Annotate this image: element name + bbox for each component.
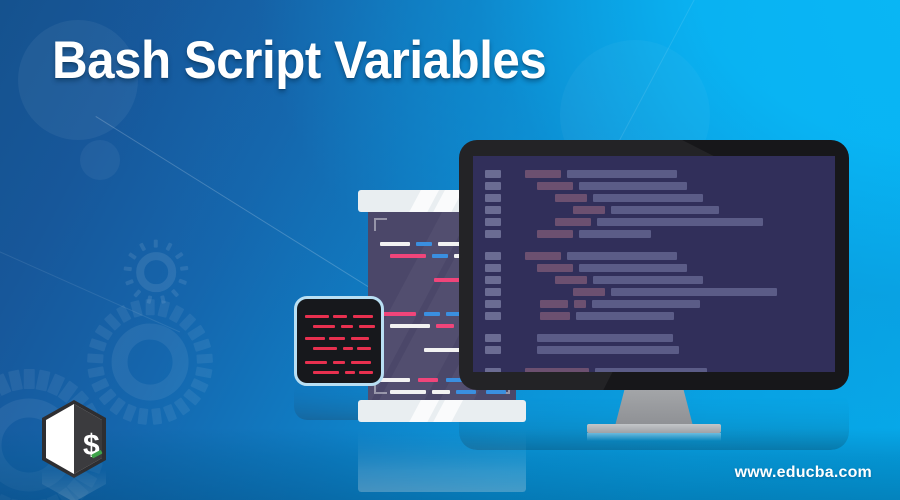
- code-line-number: [485, 218, 501, 226]
- dollar-prompt-icon: $: [83, 429, 100, 462]
- code-line-number: [485, 368, 501, 372]
- tablet-bottom-bar: [358, 400, 526, 422]
- code-keyword: [525, 170, 561, 178]
- code-keyword: [573, 206, 605, 214]
- code-dash: [424, 348, 464, 352]
- code-dash: [359, 325, 375, 328]
- code-dash: [305, 361, 327, 364]
- code-line-number: [485, 346, 501, 354]
- code-line-number: [485, 300, 501, 308]
- banner-image: Bash Script Variables: [0, 0, 900, 500]
- code-line-number: [485, 170, 501, 178]
- code-text: [611, 288, 777, 296]
- code-line-number: [485, 194, 501, 202]
- watermark-url: www.educba.com: [735, 464, 872, 482]
- code-text: [611, 206, 719, 214]
- code-text: [592, 300, 700, 308]
- code-dash: [305, 315, 329, 318]
- gear-icon: [124, 240, 188, 304]
- code-dash: [418, 378, 438, 382]
- monitor-base-reflection: [587, 433, 721, 441]
- code-dash: [380, 312, 416, 316]
- monitor-screen: [473, 156, 835, 372]
- code-dash: [436, 324, 454, 328]
- code-line-number: [485, 252, 501, 260]
- background-hairline: [0, 238, 180, 332]
- code-keyword: [525, 252, 561, 260]
- code-line-number: [485, 206, 501, 214]
- code-dash: [351, 361, 371, 364]
- code-line-number: [485, 276, 501, 284]
- code-keyword: [555, 194, 587, 202]
- code-keyword: [537, 264, 573, 272]
- code-keyword: [573, 288, 605, 296]
- code-text: [576, 312, 674, 320]
- code-dash: [351, 337, 369, 340]
- corner-bracket-icon: [374, 218, 387, 231]
- code-text: [579, 182, 687, 190]
- bash-logo-reflection: [36, 470, 112, 500]
- code-dash: [416, 242, 432, 246]
- code-dash: [343, 347, 353, 350]
- tablet-reflection: [358, 422, 526, 492]
- code-line-number: [485, 182, 501, 190]
- code-dash: [313, 325, 335, 328]
- code-keyword: [540, 300, 568, 308]
- code-dash: [305, 337, 325, 340]
- code-dash: [390, 254, 426, 258]
- code-dash: [390, 324, 430, 328]
- mini-tablet-device: [294, 296, 384, 386]
- desktop-monitor: [459, 140, 849, 390]
- code-text: [537, 346, 679, 354]
- code-dash: [333, 361, 345, 364]
- code-dash: [333, 315, 347, 318]
- code-text: [597, 218, 763, 226]
- code-line-number: [485, 312, 501, 320]
- code-dash: [432, 254, 448, 258]
- code-keyword: [540, 312, 570, 320]
- page-title: Bash Script Variables: [52, 34, 546, 87]
- code-dash: [380, 378, 410, 382]
- code-dash: [313, 347, 337, 350]
- code-dash: [380, 242, 410, 246]
- code-dash: [341, 325, 353, 328]
- background-circle: [80, 140, 120, 180]
- code-dash: [313, 371, 339, 374]
- code-dash: [456, 390, 476, 394]
- code-dash: [329, 337, 345, 340]
- code-text: [579, 230, 651, 238]
- code-dash: [390, 390, 426, 394]
- code-keyword: [555, 218, 591, 226]
- monitor-bezel: [459, 140, 849, 390]
- code-dash: [424, 312, 440, 316]
- code-keyword: [555, 276, 587, 284]
- code-dash: [345, 371, 355, 374]
- code-keyword: [537, 182, 573, 190]
- code-text: [595, 368, 707, 372]
- code-dash: [357, 347, 371, 350]
- code-keyword: [574, 300, 586, 308]
- code-line-number: [485, 288, 501, 296]
- code-text: [567, 170, 677, 178]
- code-text: [579, 264, 687, 272]
- code-line-number: [485, 264, 501, 272]
- code-text: [567, 252, 677, 260]
- monitor-base: [587, 424, 721, 433]
- code-dash: [432, 390, 450, 394]
- code-line-number: [485, 334, 501, 342]
- code-text: [593, 276, 703, 284]
- code-keyword: [537, 230, 573, 238]
- code-text: [593, 194, 703, 202]
- code-dash: [359, 371, 373, 374]
- code-dash: [353, 315, 373, 318]
- code-line-number: [485, 230, 501, 238]
- monitor-stand: [615, 390, 693, 426]
- code-keyword: [525, 368, 589, 372]
- code-dash: [486, 390, 506, 394]
- code-text: [537, 334, 673, 342]
